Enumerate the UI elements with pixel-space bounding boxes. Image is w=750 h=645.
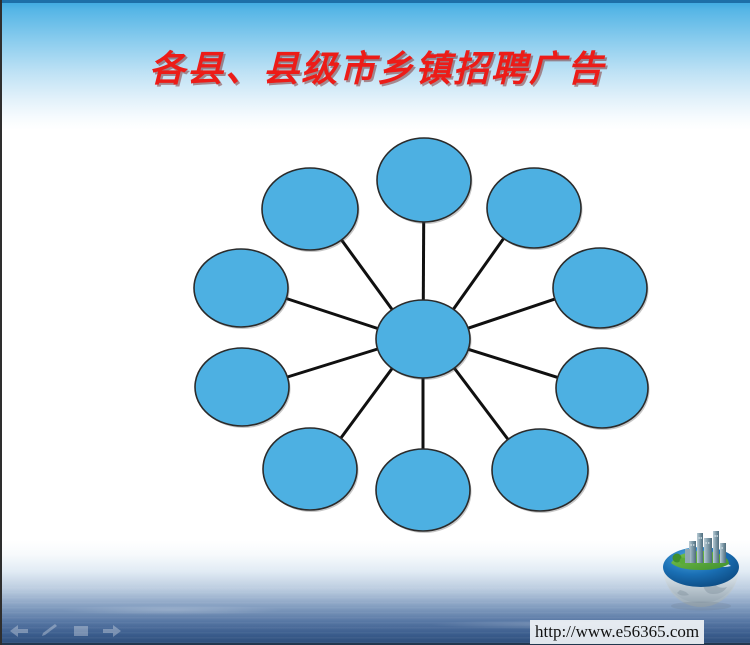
radial-diagram — [2, 0, 750, 645]
diagram-node-5[interactable] — [492, 429, 590, 513]
diagram-node-9[interactable] — [194, 249, 290, 329]
node-ellipse — [262, 168, 358, 250]
pen-icon — [42, 624, 57, 636]
node-ellipse — [556, 348, 648, 428]
diagram-node-7[interactable] — [263, 428, 359, 512]
previous-slide-button[interactable] — [8, 623, 30, 639]
earth-city-globe-logo — [655, 527, 747, 613]
diagram-node-10[interactable] — [262, 168, 360, 252]
pen-tool-button[interactable] — [39, 623, 61, 639]
diagram-spoke — [454, 368, 508, 439]
diagram-spoke — [468, 299, 555, 328]
diagram-node-8[interactable] — [195, 348, 291, 428]
arrow-left-icon — [10, 625, 28, 637]
diagram-spoke — [286, 299, 377, 329]
watermark-url: http://www.e56365.com — [530, 620, 704, 644]
slide-menu-button[interactable] — [70, 623, 92, 639]
diagram-center-node — [376, 300, 472, 380]
rectangle-icon — [74, 626, 88, 636]
diagram-spoke — [287, 349, 377, 377]
diagram-spoke — [468, 349, 557, 377]
node-ellipse — [376, 449, 470, 531]
diagram-node-3[interactable] — [553, 248, 649, 330]
arrow-right-icon — [103, 625, 121, 637]
radial-diagram-canvas — [2, 0, 750, 645]
next-slide-button[interactable] — [101, 623, 123, 639]
node-ellipse — [376, 300, 470, 378]
diagram-node-6[interactable] — [376, 449, 472, 533]
node-ellipse — [194, 249, 288, 327]
node-ellipse — [377, 138, 471, 222]
diagram-center-node-shape[interactable] — [376, 300, 472, 380]
node-ellipse — [487, 168, 581, 248]
diagram-node-1[interactable] — [377, 138, 473, 224]
node-ellipse — [492, 429, 588, 511]
diagram-spoke — [342, 240, 393, 310]
diagram-spoke — [341, 368, 392, 438]
presentation-slide: 各县、县级市乡镇招聘广告 — [0, 0, 750, 645]
node-ellipse — [263, 428, 357, 510]
diagram-node-4[interactable] — [556, 348, 650, 430]
diagram-spoke — [453, 239, 503, 310]
node-ellipse — [553, 248, 647, 328]
globe-shadow — [671, 602, 731, 611]
slideshow-nav-controls[interactable] — [8, 623, 123, 639]
node-ellipse — [195, 348, 289, 426]
diagram-node-2[interactable] — [487, 168, 583, 250]
